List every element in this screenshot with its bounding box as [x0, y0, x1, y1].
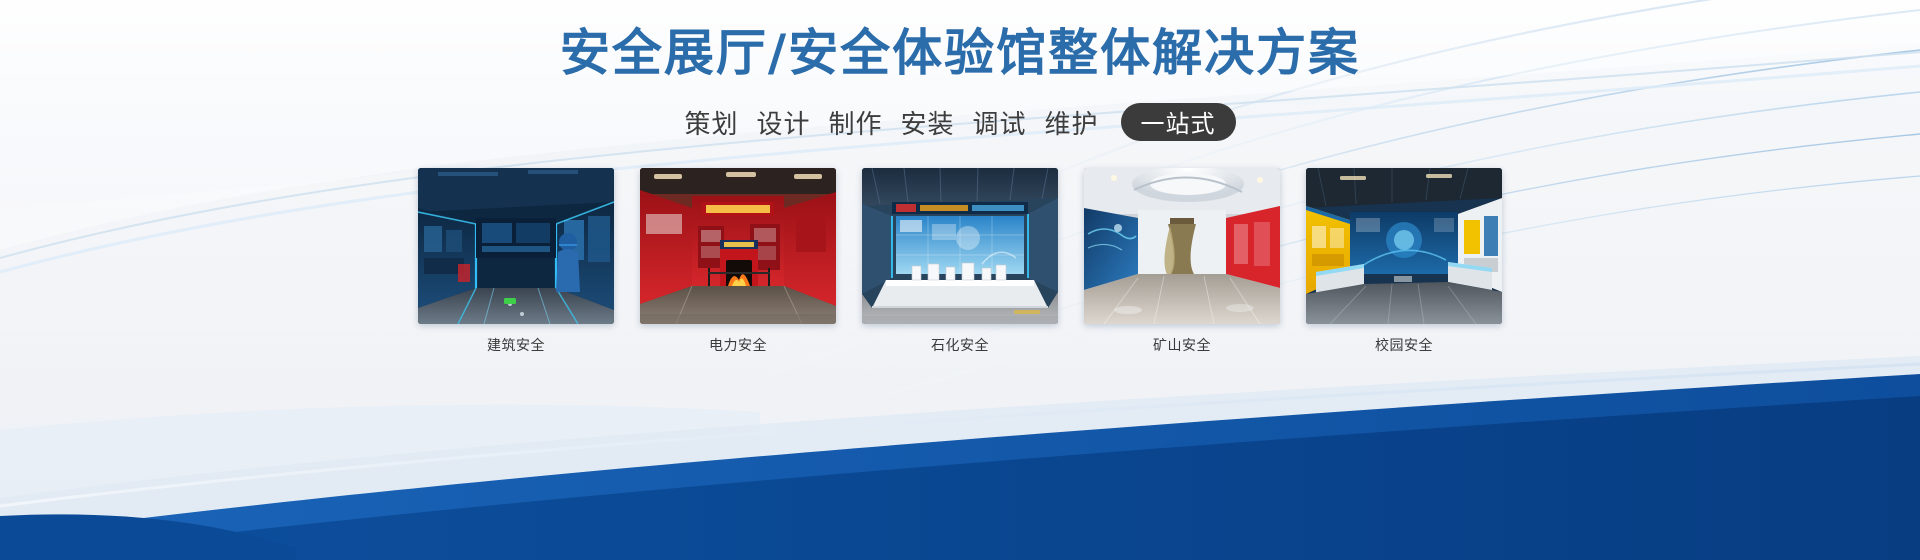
subtitle-item-4: 调试: [973, 104, 1027, 141]
thumbnail-petrochemical[interactable]: [862, 168, 1058, 324]
subtitle-row: 策划 设计 制作 安装 调试 维护 一站式: [0, 100, 1920, 144]
subtitle-item-1: 设计: [756, 104, 810, 141]
subtitle-item-0: 策划: [684, 104, 738, 141]
thumbnail-construction[interactable]: [418, 168, 614, 324]
safety-exhibition-banner: 安全展厅/安全体验馆整体解决方案 策划 设计 制作 安装 调试 维护 一站式: [0, 0, 1920, 560]
power-safety-hall-image: [640, 168, 836, 324]
campus-safety-hall-image: [1306, 168, 1502, 324]
thumbnail-campus[interactable]: [1306, 168, 1502, 324]
thumbnail-power[interactable]: [640, 168, 836, 324]
subtitle-item-3: 安装: [901, 104, 955, 141]
construction-safety-hall-image: [418, 168, 614, 324]
subtitle-item-5: 维护: [1045, 104, 1099, 141]
petrochemical-safety-hall-image: [862, 168, 1058, 324]
subtitle-item-2: 制作: [828, 104, 882, 141]
bottom-blue-wave: [0, 310, 1920, 560]
thumbnail-mining[interactable]: [1084, 168, 1280, 324]
page-title: 安全展厅/安全体验馆整体解决方案: [0, 26, 1920, 81]
one-stop-badge: 一站式: [1121, 103, 1236, 141]
mining-safety-hall-image: [1084, 168, 1280, 324]
